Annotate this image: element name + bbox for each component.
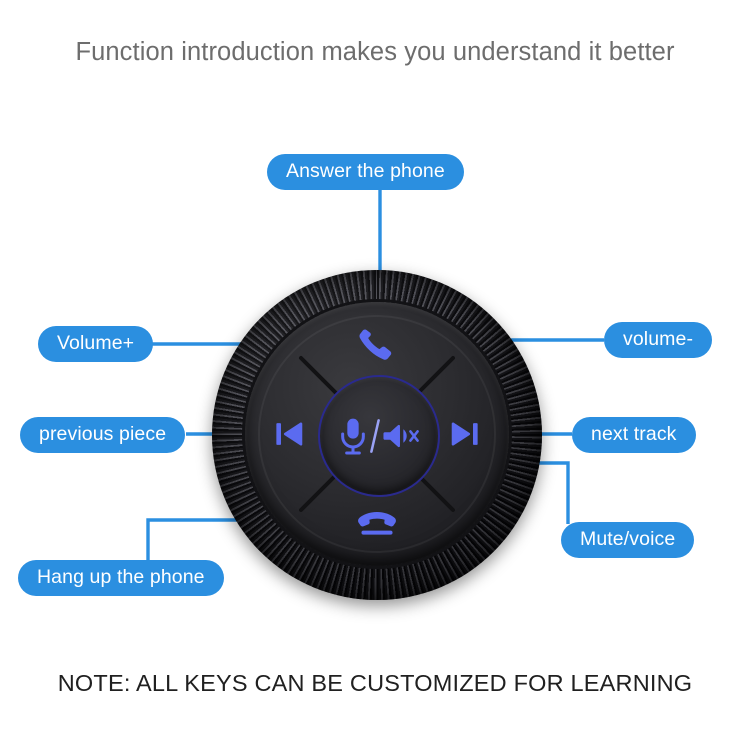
next-track-icon [447,419,481,449]
callout-answer-the-phone[interactable]: Answer the phone [267,154,464,190]
callout-volume-down[interactable]: volume- [604,322,712,358]
phone-handset-icon [354,324,400,370]
device-button-previous[interactable] [264,410,316,458]
page-title: Function introduction makes you understa… [0,38,750,67]
footer-note: NOTE: ALL KEYS CAN BE CUSTOMIZED FOR LEA… [0,670,750,697]
speaker-mute-icon [382,421,420,451]
previous-track-icon [273,419,307,449]
callout-mute-voice[interactable]: Mute/voice [561,522,694,558]
infographic-stage: Function introduction makes you understa… [0,0,750,750]
device-button-hangup[interactable] [342,498,412,548]
callout-hang-up-the-phone[interactable]: Hang up the phone [18,560,224,596]
phone-hangup-icon [353,506,401,540]
microphone-icon [338,416,368,456]
device-button-next[interactable] [438,410,490,458]
microphone-mute-icon [338,416,420,456]
callout-next-track[interactable]: next track [572,417,696,453]
slash-divider-icon [369,416,381,456]
callout-previous-piece[interactable]: previous piece [20,417,185,453]
callout-volume-up[interactable]: Volume+ [38,326,153,362]
steering-wheel-remote [212,270,542,600]
device-button-answer[interactable] [342,322,412,372]
device-button-center-mute-voice[interactable] [318,375,440,497]
